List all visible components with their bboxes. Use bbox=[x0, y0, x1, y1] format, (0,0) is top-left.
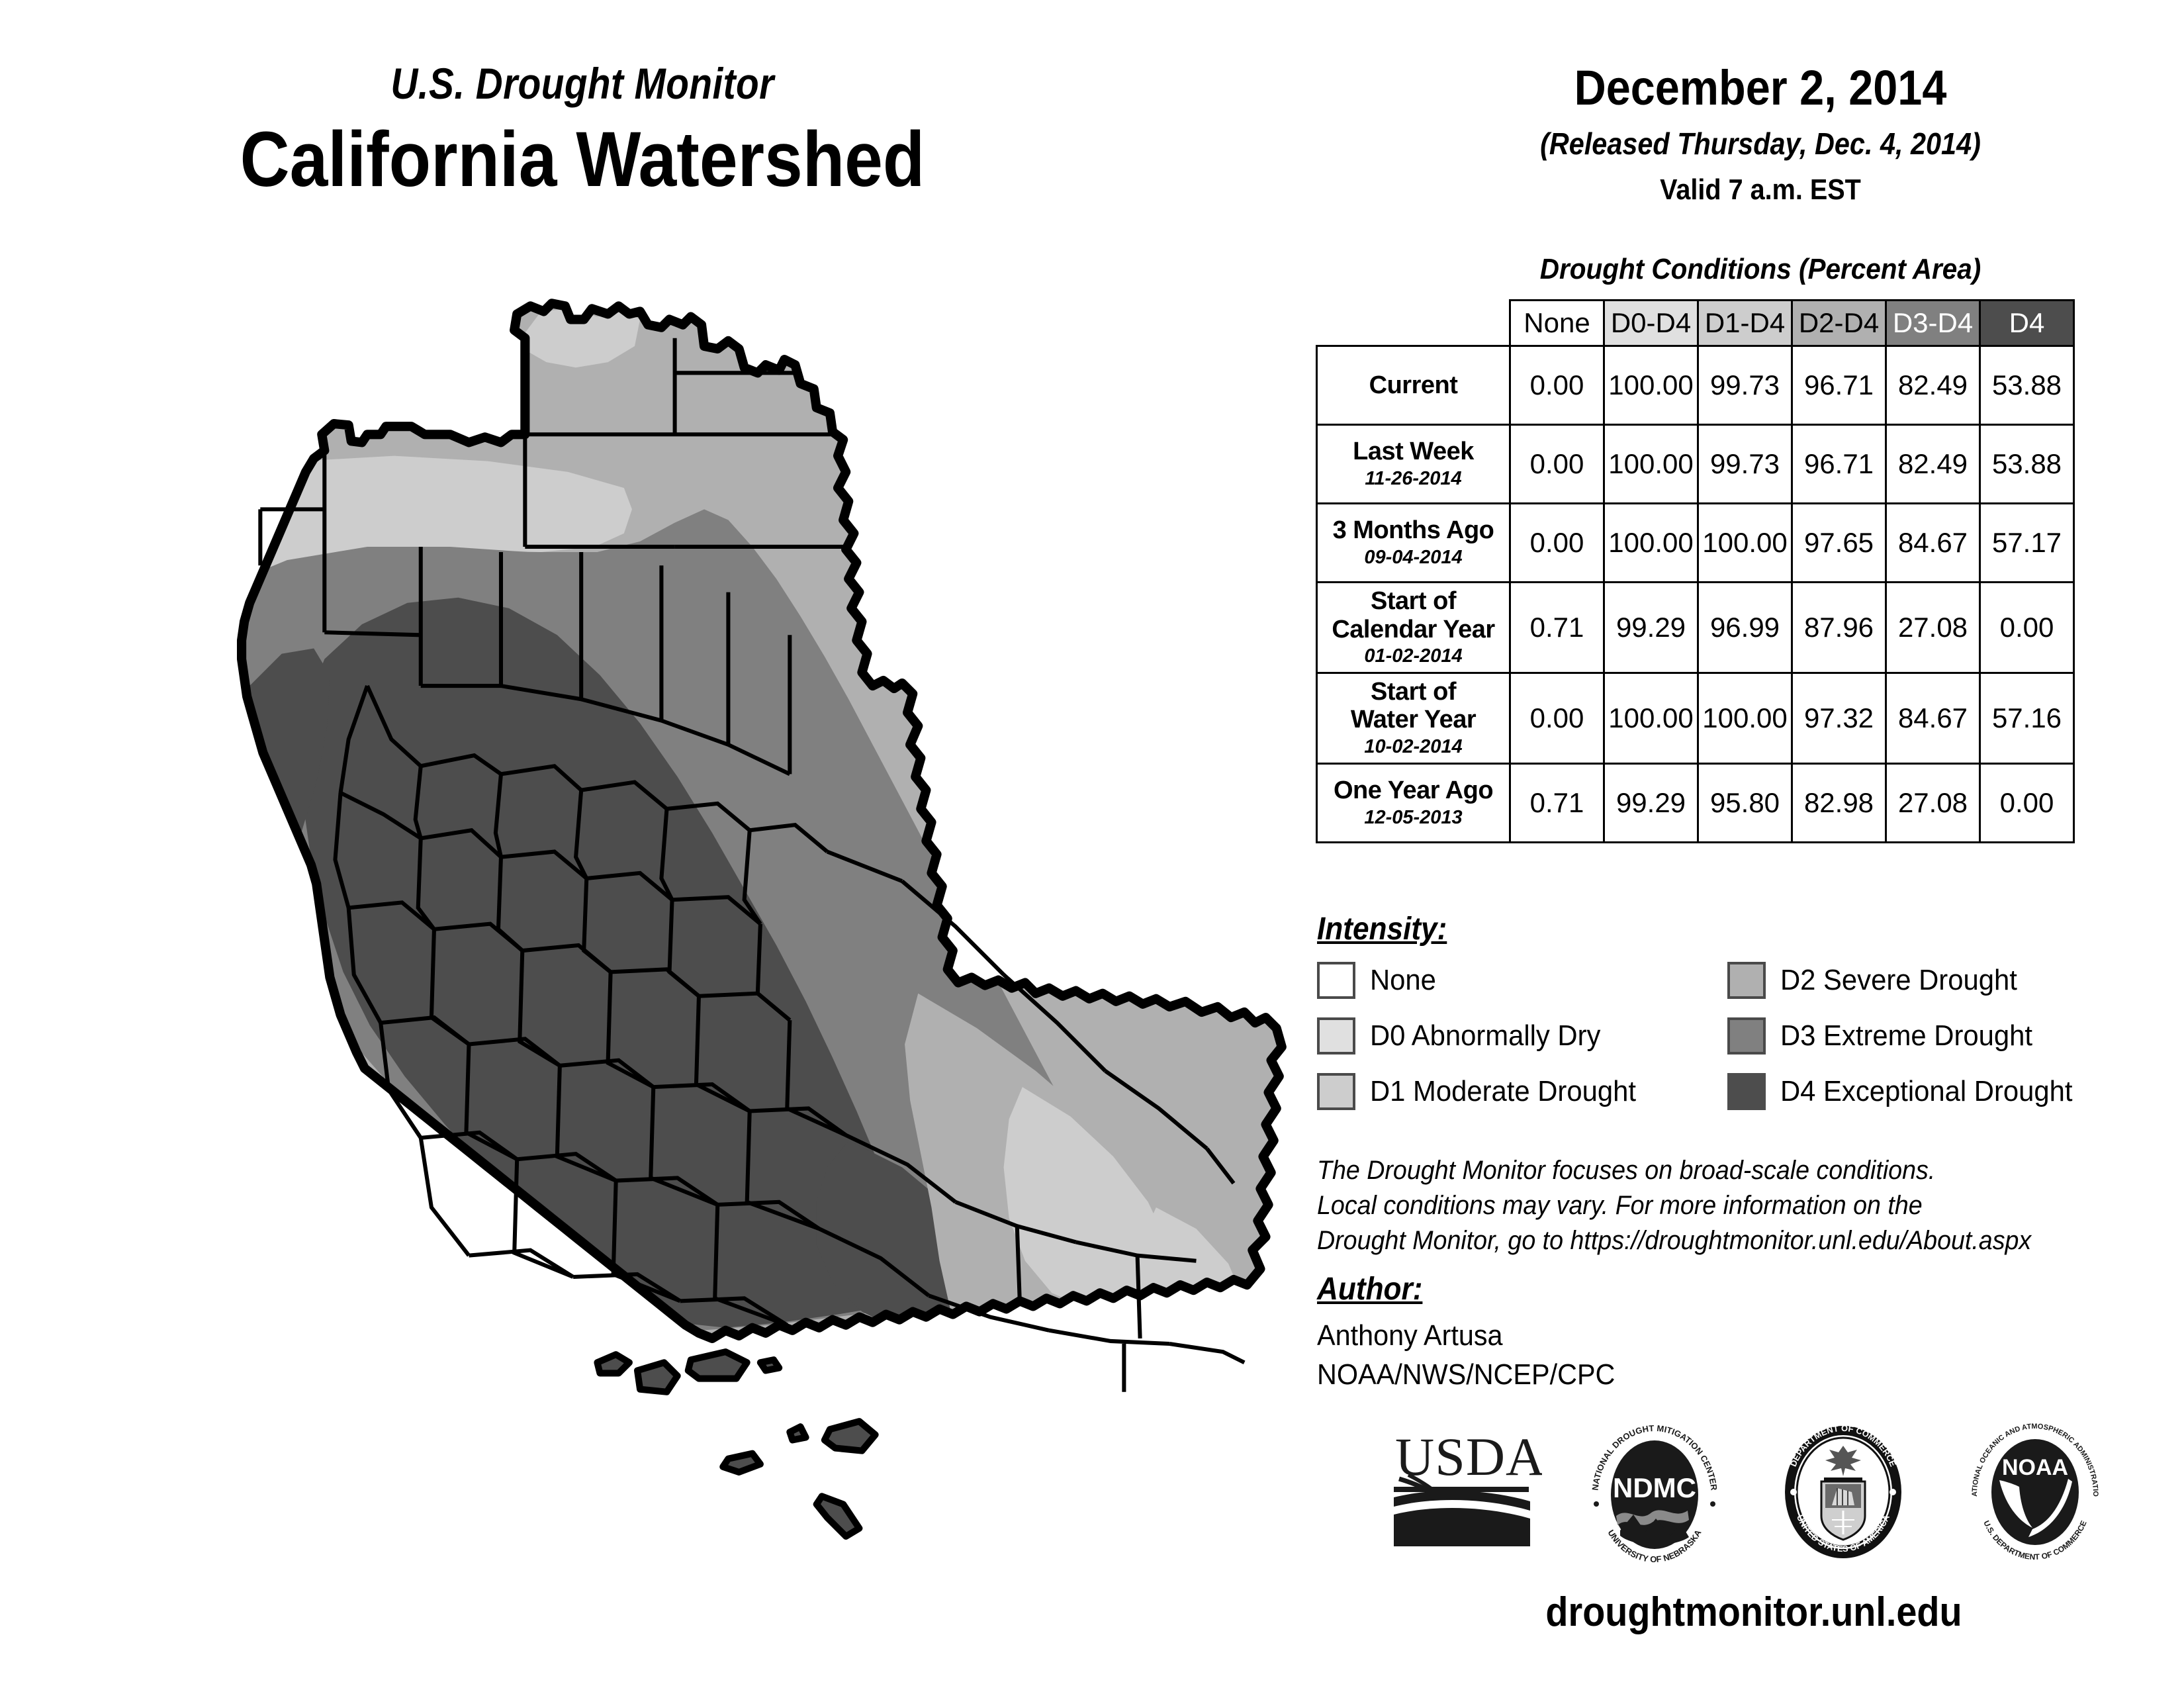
author-affiliation: NOAA/NWS/NCEP/CPC bbox=[1317, 1355, 1615, 1394]
noaa-logo-text: NOAA bbox=[2002, 1455, 2068, 1480]
cell-none: 0.00 bbox=[1510, 504, 1604, 583]
cell-none: 0.00 bbox=[1510, 673, 1604, 763]
cell-none: 0.00 bbox=[1510, 346, 1604, 425]
map-channel-islands bbox=[597, 1352, 875, 1536]
column-header-d3d4: D3-D4 bbox=[1886, 301, 1980, 346]
legend-row: D1 Moderate Drought D4 Exceptional Droug… bbox=[1317, 1072, 2171, 1111]
cell-d1d4: 95.80 bbox=[1698, 763, 1792, 842]
row-label-text: 3 Months Ago bbox=[1320, 516, 1506, 545]
row-label-one-year-ago: One Year Ago 12-05-2013 bbox=[1317, 763, 1510, 842]
column-header-d0d4: D0-D4 bbox=[1604, 301, 1698, 346]
cell-d0d4: 100.00 bbox=[1604, 346, 1698, 425]
footer-url[interactable]: droughtmonitor.unl.edu bbox=[1367, 1589, 2141, 1636]
legend-item-d0: D0 Abnormally Dry bbox=[1317, 1017, 1727, 1055]
table-row: Last Week 11-26-2014 0.00 100.00 99.73 9… bbox=[1317, 425, 2074, 504]
swatch-d3-icon bbox=[1727, 1017, 1766, 1055]
table-header-row: None D0-D4 D1-D4 D2-D4 D3-D4 D4 bbox=[1317, 301, 2074, 346]
cell-d4: 53.88 bbox=[1980, 346, 2074, 425]
cell-none: 0.00 bbox=[1510, 425, 1604, 504]
row-label-text-line1: Start of bbox=[1320, 587, 1506, 616]
cell-none: 0.71 bbox=[1510, 763, 1604, 842]
cell-d4: 53.88 bbox=[1980, 425, 2074, 504]
cell-d1d4: 100.00 bbox=[1698, 504, 1792, 583]
cell-d3d4: 27.08 bbox=[1886, 763, 1980, 842]
row-label-date: 11-26-2014 bbox=[1320, 467, 1506, 491]
cell-d2d4: 96.71 bbox=[1792, 346, 1886, 425]
row-label-start-of-water-year: Start of Water Year 10-02-2014 bbox=[1317, 673, 1510, 763]
legend-label-d1: D1 Moderate Drought bbox=[1370, 1075, 1636, 1108]
row-label-text: Last Week bbox=[1320, 438, 1506, 466]
legend-label-d0: D0 Abnormally Dry bbox=[1370, 1019, 1600, 1053]
cell-d3d4: 84.67 bbox=[1886, 504, 1980, 583]
legend-item-d4: D4 Exceptional Drought bbox=[1727, 1073, 2138, 1110]
info-panel: December 2, 2014 (Released Thursday, Dec… bbox=[1324, 0, 2184, 1688]
legend-title: Intensity: bbox=[1317, 911, 1447, 947]
row-label-text-line1: Start of bbox=[1320, 678, 1506, 706]
table-row: One Year Ago 12-05-2013 0.71 99.29 95.80… bbox=[1317, 763, 2074, 842]
column-header-none: None bbox=[1510, 301, 1604, 346]
legend-row: D0 Abnormally Dry D3 Extreme Drought bbox=[1317, 1017, 2171, 1055]
ndmc-logo: NATIONAL DROUGHT MITIGATION CENTER UNIVE… bbox=[1582, 1423, 1727, 1566]
disclaimer-line-3[interactable]: Drought Monitor, go to https://droughtmo… bbox=[1317, 1223, 2120, 1258]
disclaimer-line-1: The Drought Monitor focuses on broad-sca… bbox=[1317, 1153, 2120, 1188]
column-header-d4: D4 bbox=[1980, 301, 2074, 346]
author-block: Anthony Artusa NOAA/NWS/NCEP/CPC bbox=[1317, 1316, 1615, 1395]
row-label-current: Current bbox=[1317, 346, 1510, 425]
program-title: U.S. Drought Monitor bbox=[81, 58, 1083, 109]
legend-label-d2: D2 Severe Drought bbox=[1780, 964, 2017, 997]
cell-d1d4: 96.99 bbox=[1698, 583, 1792, 673]
cell-d3d4: 82.49 bbox=[1886, 425, 1980, 504]
cell-d2d4: 97.32 bbox=[1792, 673, 1886, 763]
swatch-d2-icon bbox=[1727, 962, 1766, 999]
map-drought-layers bbox=[100, 285, 1303, 1609]
cell-d0d4: 99.29 bbox=[1604, 763, 1698, 842]
row-label-last-week: Last Week 11-26-2014 bbox=[1317, 425, 1510, 504]
map-container[interactable] bbox=[99, 285, 1304, 1609]
swatch-none-icon bbox=[1317, 962, 1355, 999]
legend-item-d3: D3 Extreme Drought bbox=[1727, 1017, 2138, 1055]
cell-none: 0.71 bbox=[1510, 583, 1604, 673]
cell-d4: 0.00 bbox=[1980, 583, 2074, 673]
ndmc-logo-text: NDMC bbox=[1613, 1472, 1696, 1503]
drought-monitor-page: U.S. Drought Monitor California Watershe… bbox=[0, 0, 2184, 1688]
release-date: (Released Thursday, Dec. 4, 2014) bbox=[1439, 126, 2082, 162]
cell-d3d4: 27.08 bbox=[1886, 583, 1980, 673]
row-label-date: 09-04-2014 bbox=[1320, 546, 1506, 569]
cell-d1d4: 100.00 bbox=[1698, 673, 1792, 763]
legend-label-none: None bbox=[1370, 964, 1436, 997]
row-label-text-line2: Water Year bbox=[1320, 706, 1506, 734]
swatch-d4-icon bbox=[1727, 1073, 1766, 1110]
table-corner-cell bbox=[1317, 301, 1510, 346]
row-label-date: 12-05-2013 bbox=[1320, 806, 1506, 829]
legend-row: None D2 Severe Drought bbox=[1317, 961, 2171, 1000]
row-label-text-line2: Calendar Year bbox=[1320, 616, 1506, 644]
legend-item-d2: D2 Severe Drought bbox=[1727, 962, 2138, 999]
author-heading: Author: bbox=[1317, 1271, 1422, 1307]
noaa-logo: NATIONAL OCEANIC AND ATMOSPHERIC ADMINIS… bbox=[1962, 1423, 2108, 1566]
row-label-text: One Year Ago bbox=[1320, 776, 1506, 805]
cell-d1d4: 99.73 bbox=[1698, 346, 1792, 425]
row-label-3-months-ago: 3 Months Ago 09-04-2014 bbox=[1317, 504, 1510, 583]
cell-d2d4: 82.98 bbox=[1792, 763, 1886, 842]
cell-d4: 0.00 bbox=[1980, 763, 2074, 842]
map-panel: U.S. Drought Monitor California Watershe… bbox=[0, 0, 1317, 1688]
page-title: California Watershed bbox=[70, 119, 1095, 201]
legend-label-d3: D3 Extreme Drought bbox=[1780, 1019, 2032, 1053]
row-label-start-of-calendar-year: Start of Calendar Year 01-02-2014 bbox=[1317, 583, 1510, 673]
swatch-d0-icon bbox=[1317, 1017, 1355, 1055]
column-header-d2d4: D2-D4 bbox=[1792, 301, 1886, 346]
author-name: Anthony Artusa bbox=[1317, 1316, 1615, 1355]
drought-conditions-table: None D0-D4 D1-D4 D2-D4 D3-D4 D4 Current … bbox=[1316, 299, 2075, 843]
cell-d1d4: 99.73 bbox=[1698, 425, 1792, 504]
cell-d2d4: 97.65 bbox=[1792, 504, 1886, 583]
column-header-d1d4: D1-D4 bbox=[1698, 301, 1792, 346]
cell-d0d4: 100.00 bbox=[1604, 425, 1698, 504]
legend-item-none: None bbox=[1317, 962, 1727, 999]
table-row: Current 0.00 100.00 99.73 96.71 82.49 53… bbox=[1317, 346, 2074, 425]
usda-logo: USDA bbox=[1390, 1423, 1542, 1559]
intensity-legend: None D2 Severe Drought D0 Abnormally Dry… bbox=[1317, 961, 2171, 1128]
cell-d0d4: 100.00 bbox=[1604, 504, 1698, 583]
disclaimer-line-2: Local conditions may vary. For more info… bbox=[1317, 1188, 2120, 1223]
legend-item-d1: D1 Moderate Drought bbox=[1317, 1073, 1727, 1110]
cell-d4: 57.17 bbox=[1980, 504, 2074, 583]
table-row: Start of Calendar Year 01-02-2014 0.71 9… bbox=[1317, 583, 2074, 673]
cell-d2d4: 87.96 bbox=[1792, 583, 1886, 673]
cell-d0d4: 100.00 bbox=[1604, 673, 1698, 763]
valid-time: Valid 7 a.m. EST bbox=[1439, 173, 2082, 207]
california-watershed-map[interactable] bbox=[99, 285, 1304, 1609]
cell-d0d4: 99.29 bbox=[1604, 583, 1698, 673]
disclaimer-text: The Drought Monitor focuses on broad-sca… bbox=[1317, 1153, 2120, 1258]
logo-row: USDA NATIONAL DROUGHT M bbox=[1310, 1423, 2171, 1575]
table-row: Start of Water Year 10-02-2014 0.00 100.… bbox=[1317, 673, 2074, 763]
swatch-d1-icon bbox=[1317, 1073, 1355, 1110]
legend-label-d4: D4 Exceptional Drought bbox=[1780, 1075, 2072, 1108]
row-label-date: 01-02-2014 bbox=[1320, 645, 1506, 668]
row-label-date: 10-02-2014 bbox=[1320, 735, 1506, 759]
report-date: December 2, 2014 bbox=[1439, 60, 2082, 116]
cell-d2d4: 96.71 bbox=[1792, 425, 1886, 504]
department-of-commerce-seal: DEPARTMENT OF COMMERCE UNITED STATES OF … bbox=[1774, 1423, 1913, 1566]
cell-d3d4: 84.67 bbox=[1886, 673, 1980, 763]
table-row: 3 Months Ago 09-04-2014 0.00 100.00 100.… bbox=[1317, 504, 2074, 583]
row-label-text: Current bbox=[1320, 371, 1506, 400]
cell-d4: 57.16 bbox=[1980, 673, 2074, 763]
table-caption: Drought Conditions (Percent Area) bbox=[1407, 253, 2113, 286]
cell-d3d4: 82.49 bbox=[1886, 346, 1980, 425]
